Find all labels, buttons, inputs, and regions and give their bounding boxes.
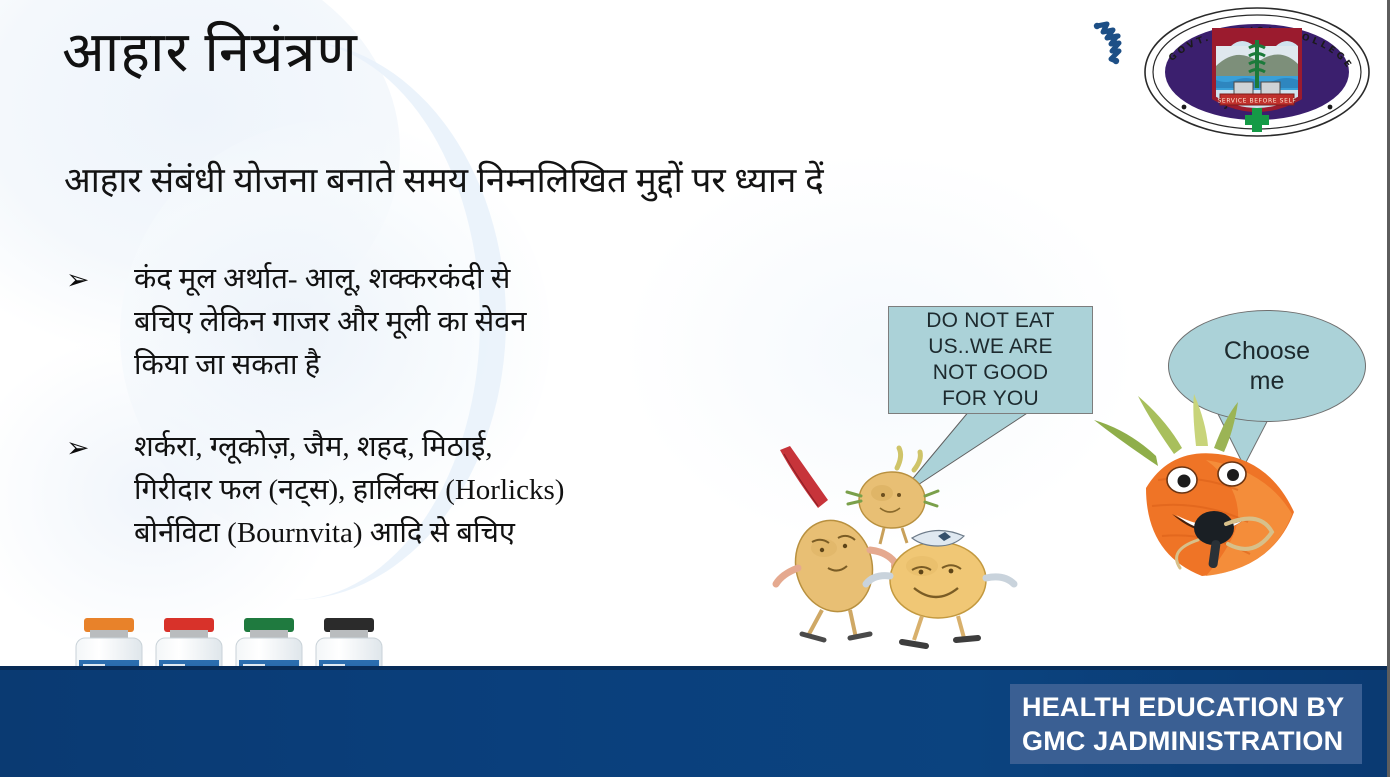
arrow-bullet-icon: ➢: [66, 258, 134, 302]
page-subtitle: आहार संबंधी योजना बनाते समय निम्नलिखित म…: [64, 160, 824, 202]
bullet-line: बोर्नविटा (Bournvita) आदि से बचिए: [134, 512, 564, 555]
institution-mark-icon: [1085, 18, 1131, 70]
presentation-slide: आहार नियंत्रण आहार संबंधी योजना बनाते सम…: [0, 0, 1390, 777]
footer-credit-box: HEALTH EDUCATION BY GMC JADMINISTRATION: [1010, 684, 1362, 764]
bullet-line: गिरीदार फल (नट्स), हार्लिक्स (Horlicks): [134, 469, 564, 512]
bubble-line: NOT GOOD: [933, 361, 1049, 384]
page-title: आहार नियंत्रण: [62, 22, 358, 85]
footer-line: GMC JADMINISTRATION: [1022, 724, 1362, 758]
bubble-line: US..WE ARE: [928, 335, 1053, 358]
bullet-item: ➢ कंद मूल अर्थात- आलू, शक्करकंदी से बचिए…: [66, 258, 526, 387]
bullet-item: ➢ शर्करा, ग्लूकोज़, जैम, शहद, मिठाई, गिर…: [66, 426, 564, 555]
warning-speech-bubble-text: DO NOT EAT US..WE ARE NOT GOOD FOR YOU: [926, 308, 1054, 412]
bullet-line: कंद मूल अर्थात- आलू, शक्करकंदी से: [134, 258, 526, 301]
gmc-jammu-logo: GOVT. MEDICAL COLLEGE JAMMU SERVICE BEFO…: [1142, 6, 1372, 138]
bubble-line: Choose: [1224, 337, 1310, 365]
bullet-line: किया जा सकता है: [134, 344, 526, 387]
choose-speech-bubble-text: Choose me: [1224, 336, 1310, 396]
bubble-line: FOR YOU: [942, 387, 1039, 410]
bullet-line: बचिए लेकिन गाजर और मूली का सेवन: [134, 301, 526, 344]
bubble-line: DO NOT EAT: [926, 309, 1054, 332]
bullet-text: कंद मूल अर्थात- आलू, शक्करकंदी से बचिए ल…: [134, 258, 526, 387]
bullet-text: शर्करा, ग्लूकोज़, जैम, शहद, मिठाई, गिरीद…: [134, 426, 564, 555]
bullet-line: शर्करा, ग्लूकोज़, जैम, शहद, मिठाई,: [134, 426, 564, 469]
cartoon-potato-characters: [762, 438, 1032, 658]
warning-speech-bubble: DO NOT EAT US..WE ARE NOT GOOD FOR YOU: [888, 306, 1093, 414]
arrow-bullet-icon: ➢: [66, 426, 134, 470]
svg-text:SERVICE BEFORE SELF: SERVICE BEFORE SELF: [1218, 98, 1297, 105]
footer-line: HEALTH EDUCATION BY: [1022, 690, 1362, 724]
cartoon-carrot-character-with-microphone: [1086, 388, 1336, 588]
